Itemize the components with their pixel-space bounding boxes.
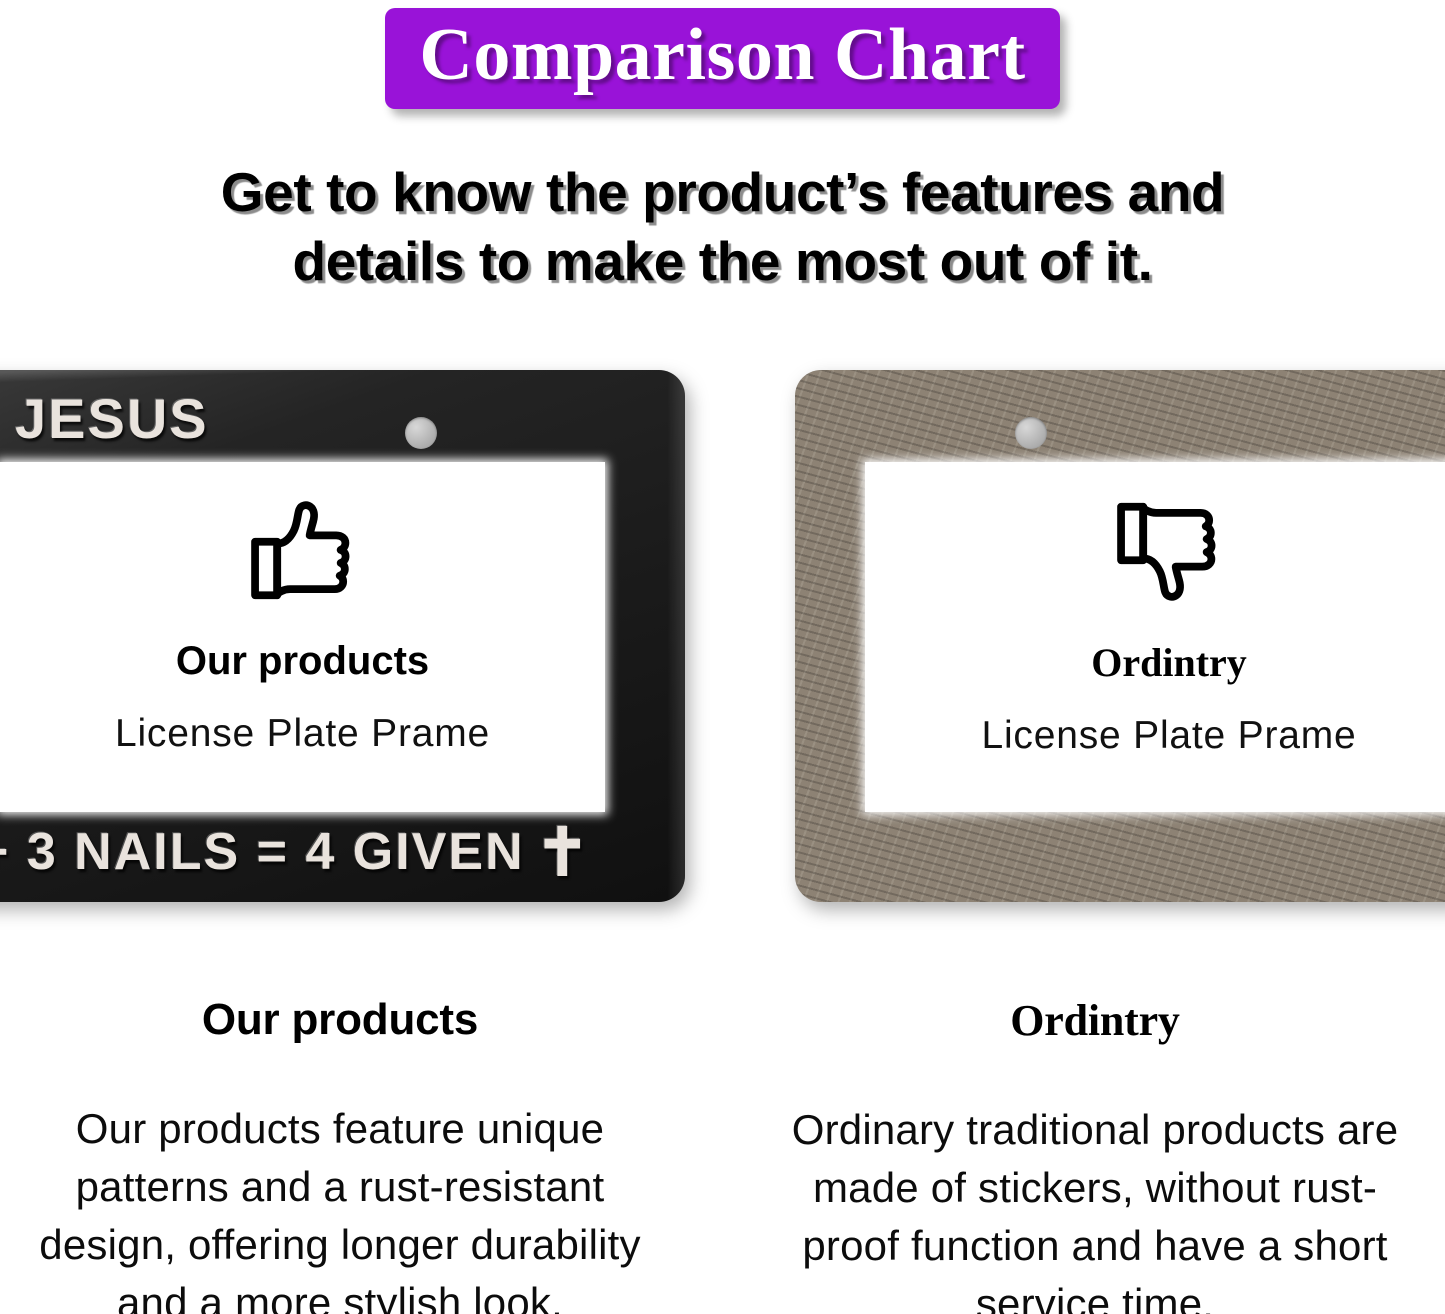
subtitle: Get to know the product’s features and d… <box>0 158 1445 297</box>
license-plate-frame-ordinary: Ordintry License Plate Prame <box>795 370 1445 902</box>
plate-bottom-label: + 3 NAILS = 4 GIVEN <box>0 823 525 881</box>
comparison-body-ordinary: Ordinary traditional products are made o… <box>750 1101 1440 1314</box>
mounting-hole-icon-left <box>405 417 437 449</box>
plate-window-subtitle-right: License Plate Prame <box>981 714 1356 758</box>
comparison-column-ours: Our products Our products feature unique… <box>0 995 685 1314</box>
plate-window-left: Our products License Plate Prame <box>0 462 605 812</box>
comparison-heading-ours: Our products <box>0 995 685 1045</box>
plate-bottom-text: + 3 NAILS = 4 GIVEN✝ <box>0 822 668 882</box>
thumbs-up-icon <box>244 492 362 615</box>
subtitle-line-1: Get to know the product’s features and <box>70 158 1375 227</box>
plate-window-title-left: Our products <box>176 639 429 684</box>
window-chamfer-right <box>865 462 927 502</box>
thumbs-down-icon <box>1110 492 1228 615</box>
plate-window-subtitle-left: License Plate Prame <box>115 712 490 756</box>
license-plate-frame-ours: JESUS Our products License Plate Prame +… <box>0 370 685 902</box>
window-chamfer-left <box>425 462 487 502</box>
plate-window-right: Ordintry License Plate Prame <box>865 462 1445 812</box>
page-title: Comparison Chart <box>419 14 1025 97</box>
comparison-column-ordinary: Ordintry Ordinary traditional products a… <box>750 995 1440 1314</box>
cross-icon: ✝ <box>535 815 592 889</box>
subtitle-line-2: details to make the most out of it. <box>70 227 1375 296</box>
title-banner: Comparison Chart <box>385 8 1059 109</box>
banner-wrapper: Comparison Chart <box>0 8 1445 109</box>
plate-window-title-right: Ordintry <box>1091 639 1247 686</box>
plate-top-text: JESUS <box>15 386 209 451</box>
mounting-hole-icon-right <box>1015 417 1047 449</box>
comparison-heading-ordinary: Ordintry <box>750 995 1440 1046</box>
comparison-body-ours: Our products feature unique patterns and… <box>0 1100 685 1314</box>
